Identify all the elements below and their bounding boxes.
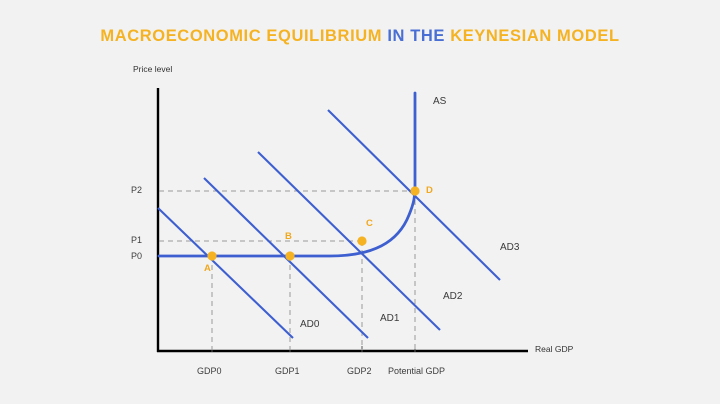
point-d-dot <box>410 186 419 195</box>
point-c-label: C <box>366 218 373 229</box>
point-c-dot <box>357 236 366 245</box>
y-tick-label-p2: P2 <box>131 185 142 195</box>
x-axis-label: Real GDP <box>535 344 573 354</box>
x-tick-label-gdp2: GDP2 <box>347 366 372 376</box>
ad0-curve-label: AD0 <box>300 319 319 330</box>
y-tick-label-p0: P0 <box>131 251 142 261</box>
point-a-dot <box>207 251 216 260</box>
x-tick-label-gdp1: GDP1 <box>275 366 300 376</box>
ad3-curve-label: AD3 <box>500 242 519 253</box>
as-curve-label: AS <box>433 96 446 107</box>
y-axis-label: Price level <box>133 64 172 74</box>
point-d-label: D <box>426 185 433 196</box>
point-b-dot <box>285 251 294 260</box>
y-tick-label-p1: P1 <box>131 235 142 245</box>
point-a-label: A <box>204 263 211 274</box>
x-tick-label-gdp0: GDP0 <box>197 366 222 376</box>
ad0-curve <box>158 208 293 338</box>
x-tick-label-potential-gdp: Potential GDP <box>388 366 445 376</box>
point-b-label: B <box>285 231 292 242</box>
diagram-canvas: MACROECONOMIC EQUILIBRIUM IN THE KEYNESI… <box>0 0 720 404</box>
ad2-curve-label: AD2 <box>443 291 462 302</box>
ad1-curve-label: AD1 <box>380 313 399 324</box>
chart-svg <box>0 0 720 404</box>
